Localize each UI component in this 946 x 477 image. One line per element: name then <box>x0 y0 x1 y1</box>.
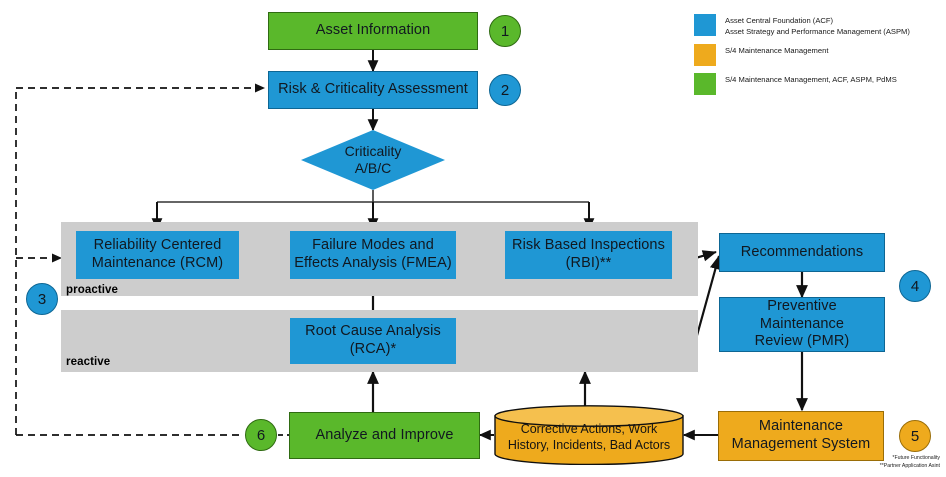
node-maintenance-management-system[interactable]: Maintenance Management System <box>718 411 884 461</box>
legend-item-orange: S/4 Maintenance Management <box>694 44 944 66</box>
node-analyze-and-improve-label: Analyze and Improve <box>315 427 453 445</box>
step-marker-3[interactable]: 3 <box>26 283 58 315</box>
node-rbi[interactable]: Risk Based Inspections (RBI)** <box>505 231 672 279</box>
node-fmea[interactable]: Failure Modes and Effects Analysis (FMEA… <box>290 231 456 279</box>
node-criticality-decision-text: Criticality A/B/C <box>301 130 445 190</box>
node-rcm-line-2: Maintenance (RCM) <box>92 255 223 273</box>
node-rcm[interactable]: Reliability Centered Maintenance (RCM) <box>76 231 239 279</box>
step-marker-6[interactable]: 6 <box>245 419 277 451</box>
diagram-canvas: proactive reactive Asset Information Ris… <box>0 0 946 477</box>
legend-item-orange-label: S/4 Maintenance Management <box>725 44 828 56</box>
legend-swatch-blue-icon <box>694 14 716 36</box>
node-analyze-and-improve[interactable]: Analyze and Improve <box>289 412 480 459</box>
node-fmea-line-1: Failure Modes and <box>312 237 434 255</box>
step-marker-3-label: 3 <box>38 291 46 308</box>
step-marker-4[interactable]: 4 <box>899 270 931 302</box>
node-risk-criticality-assessment-label: Risk & Criticality Assessment <box>278 81 468 99</box>
node-rbi-line-2: (RBI)** <box>566 255 612 273</box>
node-fmea-line-2: Effects Analysis (FMEA) <box>294 255 452 273</box>
step-marker-4-label: 4 <box>911 278 919 295</box>
node-rca[interactable]: Root Cause Analysis (RCA)* <box>290 318 456 364</box>
legend-item-green: S/4 Maintenance Management, ACF, ASPM, P… <box>694 73 944 95</box>
node-mms-line-2: Management System <box>732 436 871 454</box>
node-risk-criticality-assessment[interactable]: Risk & Criticality Assessment <box>268 71 478 109</box>
node-rca-line-2: (RCA)* <box>350 341 397 359</box>
node-pmr-line-2: Review (PMR) <box>755 333 850 351</box>
step-marker-1-label: 1 <box>501 23 509 40</box>
node-rcm-line-1: Reliability Centered <box>94 237 222 255</box>
node-pmr[interactable]: Preventive Maintenance Review (PMR) <box>719 297 885 352</box>
proactive-band-label: proactive <box>66 284 118 296</box>
legend-item-blue: Asset Central Foundation (ACF) Asset Str… <box>694 14 944 37</box>
step-marker-2[interactable]: 2 <box>489 74 521 106</box>
node-criticality-decision[interactable]: Criticality A/B/C <box>301 130 445 190</box>
footnote-text: *Future Functionality **Partner Applicat… <box>880 455 940 471</box>
node-rbi-line-1: Risk Based Inspections <box>512 237 665 255</box>
node-data-store[interactable]: Corrective Actions, Work History, Incide… <box>494 405 684 465</box>
step-marker-5-label: 5 <box>911 428 919 445</box>
node-asset-information-label: Asset Information <box>316 22 431 40</box>
legend-swatch-orange-icon <box>694 44 716 66</box>
node-data-store-text: Corrective Actions, Work History, Incide… <box>494 405 684 465</box>
legend-swatch-green-icon <box>694 73 716 95</box>
node-pmr-line-1: Preventive Maintenance <box>724 298 880 333</box>
legend-item-blue-label: Asset Central Foundation (ACF) Asset Str… <box>725 14 910 37</box>
legend-item-green-label: S/4 Maintenance Management, ACF, ASPM, P… <box>725 73 897 85</box>
node-data-store-line-2: History, Incidents, Bad Actors <box>508 438 670 454</box>
node-recommendations[interactable]: Recommendations <box>719 233 885 272</box>
node-rca-line-1: Root Cause Analysis <box>305 323 441 341</box>
step-marker-5[interactable]: 5 <box>899 420 931 452</box>
reactive-band-label: reactive <box>66 356 110 368</box>
node-data-store-line-1: Corrective Actions, Work <box>521 422 658 438</box>
step-marker-6-label: 6 <box>257 427 265 444</box>
legend: Asset Central Foundation (ACF) Asset Str… <box>694 14 944 78</box>
node-recommendations-label: Recommendations <box>741 244 863 262</box>
node-mms-line-1: Maintenance <box>759 418 843 436</box>
criticality-line-2: A/B/C <box>355 160 392 177</box>
node-asset-information[interactable]: Asset Information <box>268 12 478 50</box>
criticality-line-1: Criticality <box>345 143 402 160</box>
step-marker-2-label: 2 <box>501 82 509 99</box>
step-marker-1[interactable]: 1 <box>489 15 521 47</box>
